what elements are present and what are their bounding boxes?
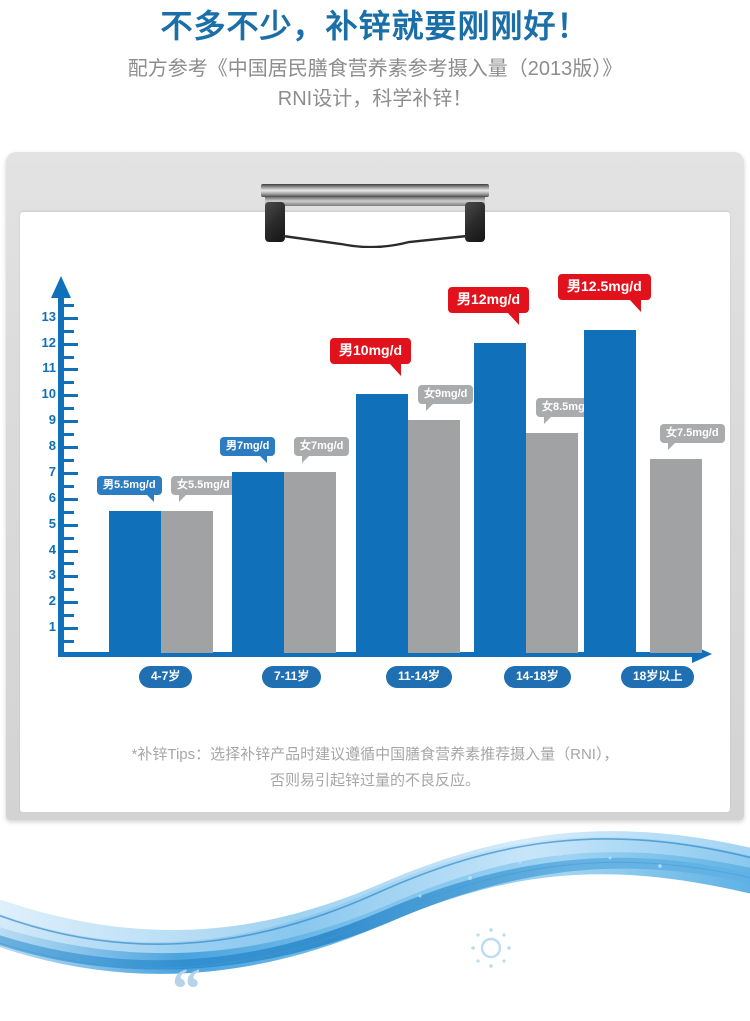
bar-female bbox=[408, 420, 460, 653]
y-axis-label: 2 bbox=[32, 593, 56, 608]
x-category-pill: 7-11岁 bbox=[262, 666, 321, 688]
page-header: 不多不少，补锌就要刚刚好！ 配方参考《中国居民膳食营养素参考摄入量（2013版）… bbox=[0, 0, 750, 140]
quote-mark-icon: “ bbox=[172, 960, 201, 1018]
y-axis-label: 5 bbox=[32, 516, 56, 531]
tag-pointer bbox=[389, 363, 401, 376]
tag-pointer bbox=[544, 415, 553, 424]
bar-label-female: 女7.5mg/d bbox=[660, 424, 725, 443]
y-axis-label: 3 bbox=[32, 567, 56, 582]
tag-pointer bbox=[629, 299, 641, 312]
bar-label-male: 男10mg/d bbox=[330, 338, 411, 364]
chart-plot-area: 男5.5mg/d女5.5mg/d男7mg/d女7mg/d男10mg/d女9mg/… bbox=[64, 296, 694, 653]
y-axis-label: 8 bbox=[32, 438, 56, 453]
bar-male bbox=[474, 343, 526, 653]
bar-label-male: 男5.5mg/d bbox=[97, 476, 162, 495]
bar-label-female: 女9mg/d bbox=[418, 385, 473, 404]
tag-pointer bbox=[507, 312, 519, 325]
y-axis-label: 12 bbox=[32, 335, 56, 350]
bar-female bbox=[526, 433, 578, 653]
tips-line-2: 否则易引起锌过量的不良反应。 bbox=[40, 768, 710, 794]
clip-metal-bar-lower bbox=[265, 197, 485, 206]
tips-line-1: *补锌Tips：选择补锌产品时建议遵循中国膳食营养素推荐摄入量（RNI）， bbox=[40, 742, 710, 768]
bar-label-male: 男12mg/d bbox=[448, 287, 529, 313]
y-axis-label: 7 bbox=[32, 464, 56, 479]
bar-female bbox=[161, 511, 213, 653]
bar-male bbox=[109, 511, 161, 653]
page-subtitle: 配方参考《中国居民膳食营养素参考摄入量（2013版）》 RNI设计，科学补锌！ bbox=[0, 46, 750, 114]
tag-pointer bbox=[179, 493, 188, 502]
y-axis-label: 10 bbox=[32, 386, 56, 401]
y-axis-label: 11 bbox=[32, 360, 56, 375]
sun-icon bbox=[468, 925, 514, 971]
zinc-rni-bar-chart: 12345678910111213 男5.5mg/d女5.5mg/d男7mg/d… bbox=[20, 284, 720, 704]
bar-male bbox=[232, 472, 284, 653]
tag-pointer bbox=[302, 454, 311, 463]
page-title: 不多不少，补锌就要刚刚好！ bbox=[0, 0, 750, 46]
subtitle-line-1: 配方参考《中国居民膳食营养素参考摄入量（2013版）》 bbox=[0, 54, 750, 84]
y-axis-label: 9 bbox=[32, 412, 56, 427]
tag-pointer bbox=[145, 493, 154, 502]
bar-label-male: 男12.5mg/d bbox=[558, 274, 651, 300]
zinc-tips-note: *补锌Tips：选择补锌产品时建议遵循中国膳食营养素推荐摄入量（RNI）， 否则… bbox=[40, 742, 710, 794]
y-axis-arrow-icon bbox=[51, 276, 71, 298]
bar-female bbox=[284, 472, 336, 653]
x-category-pill: 11-14岁 bbox=[386, 666, 452, 688]
tag-pointer bbox=[426, 402, 435, 411]
x-category-pill: 4-7岁 bbox=[139, 666, 192, 688]
tag-pointer bbox=[258, 454, 267, 463]
bar-male bbox=[356, 394, 408, 653]
bar-label-female: 女5.5mg/d bbox=[171, 476, 236, 495]
bar-female bbox=[650, 459, 702, 653]
clip-wire-icon bbox=[281, 234, 469, 248]
y-axis-label: 6 bbox=[32, 490, 56, 505]
clipboard-clip-icon bbox=[255, 180, 495, 252]
y-axis-label: 4 bbox=[32, 542, 56, 557]
bar-label-female: 女7mg/d bbox=[294, 437, 349, 456]
y-axis-label: 13 bbox=[32, 309, 56, 324]
subtitle-line-2: RNI设计，科学补锌！ bbox=[0, 84, 750, 114]
x-category-pill: 14-18岁 bbox=[504, 666, 571, 688]
tag-pointer bbox=[668, 441, 677, 450]
x-category-pill: 18岁以上 bbox=[621, 666, 694, 688]
bar-male bbox=[584, 330, 636, 653]
y-axis-label: 1 bbox=[32, 619, 56, 634]
bar-label-male: 男7mg/d bbox=[220, 437, 275, 456]
water-wave-icon bbox=[0, 800, 750, 1000]
clip-metal-bar bbox=[261, 184, 489, 197]
